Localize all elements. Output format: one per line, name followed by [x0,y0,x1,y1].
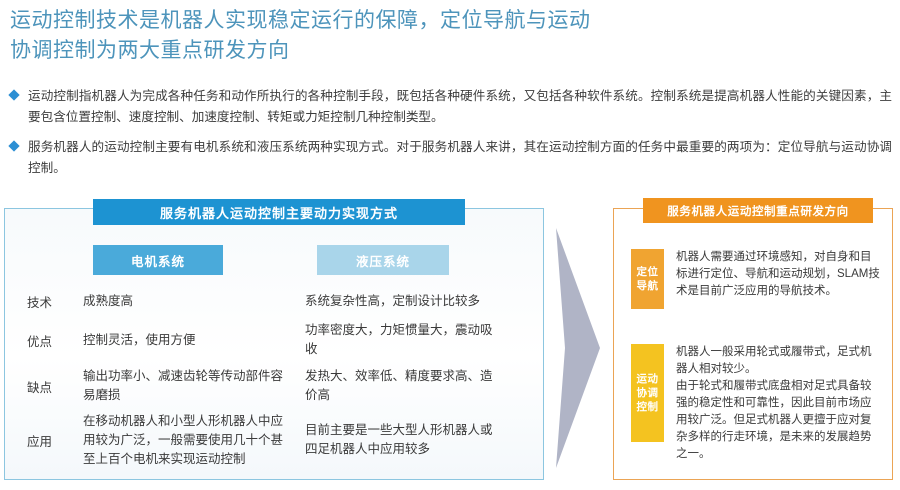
right-panel-title: 服务机器人运动控制重点研发方向 [643,198,873,223]
table-row: 应用 在移动机器人和小型人形机器人中应用较为广泛，一般需要使用几十个甚至上百个电… [5,409,543,471]
list-item: 运动 协调 控制 机器人一般采用轮式或履带式，足式机器人相对较少。 由于轮式和履… [631,344,881,463]
row-cell-hydraulic: 系统复杂性高，定制设计比较多 [305,292,515,311]
row-cell-motor: 输出功率小、减速齿轮等传动部件容易磨损 [83,367,305,405]
right-direction-panel: 定位 导航 机器人需要通过环境感知，对自身和目标进行定位、导航和运动规划，SLA… [613,208,893,480]
tag-localization-navigation: 定位 导航 [631,249,664,309]
right-arrow-icon [552,228,602,468]
bullet-list: 运动控制指机器人为完成各种任务和动作所执行的各种控制手段，既包括各种硬件系统，又… [10,86,892,188]
row-label: 应用 [27,431,83,450]
list-item: 运动控制指机器人为完成各种任务和动作所执行的各种控制手段，既包括各种硬件系统，又… [10,86,892,128]
table-row: 缺点 输出功率小、减速齿轮等传动部件容易磨损 发热大、效率低、精度要求高、造价高 [5,363,543,409]
row-cell-motor: 控制灵活，使用方便 [83,331,305,350]
table-row: 优点 控制灵活，使用方便 功率密度大，力矩惯量大，震动吸收 [5,317,543,363]
diamond-bullet-icon [8,140,19,151]
comparison-column-headers: 电机系统 液压系统 [5,245,543,275]
row-label: 缺点 [27,377,83,396]
page-title: 运动控制技术是机器人实现稳定运行的保障，定位导航与运动 协调控制为两大重点研发方… [10,6,750,66]
left-panel-title: 服务机器人运动控制主要动力实现方式 [93,199,465,225]
diamond-bullet-icon [8,89,19,100]
row-cell-hydraulic: 功率密度大，力矩惯量大，震动吸收 [305,321,515,359]
bullet-text: 运动控制指机器人为完成各种任务和动作所执行的各种控制手段，既包括各种硬件系统，又… [28,86,892,128]
item-description: 机器人需要通过环境感知，对自身和目标进行定位、导航和运动规划，SLAM技术是目前… [676,249,881,300]
list-item: 服务机器人的运动控制主要有电机系统和液压系统两种实现方式。对于服务机器人来讲，其… [10,137,892,179]
row-cell-motor: 在移动机器人和小型人形机器人中应用较为广泛，一般需要使用几十个甚至上百个电机来实… [83,412,305,469]
column-header-hydraulic-system: 液压系统 [317,245,449,275]
column-header-motor-system: 电机系统 [93,245,223,275]
row-cell-hydraulic: 目前主要是一些大型人形机器人或四足机器人中应用较多 [305,421,515,459]
list-item: 定位 导航 机器人需要通过环境感知，对自身和目标进行定位、导航和运动规划，SLA… [631,249,881,309]
table-row: 技术 成熟度高 系统复杂性高，定制设计比较多 [5,285,543,317]
row-cell-hydraulic: 发热大、效率低、精度要求高、造价高 [305,367,515,405]
bullet-text: 服务机器人的运动控制主要有电机系统和液压系统两种实现方式。对于服务机器人来讲，其… [28,137,892,179]
row-label: 优点 [27,331,83,350]
row-label: 技术 [27,292,83,311]
left-comparison-panel: 电机系统 液压系统 技术 成熟度高 系统复杂性高，定制设计比较多 优点 控制灵活… [4,208,544,480]
comparison-table: 技术 成熟度高 系统复杂性高，定制设计比较多 优点 控制灵活，使用方便 功率密度… [5,285,543,471]
tag-motion-coordination-control: 运动 协调 控制 [631,344,664,442]
row-cell-motor: 成熟度高 [83,292,305,311]
item-description: 机器人一般采用轮式或履带式，足式机器人相对较少。 由于轮式和履带式底盘相对足式具… [676,344,881,463]
